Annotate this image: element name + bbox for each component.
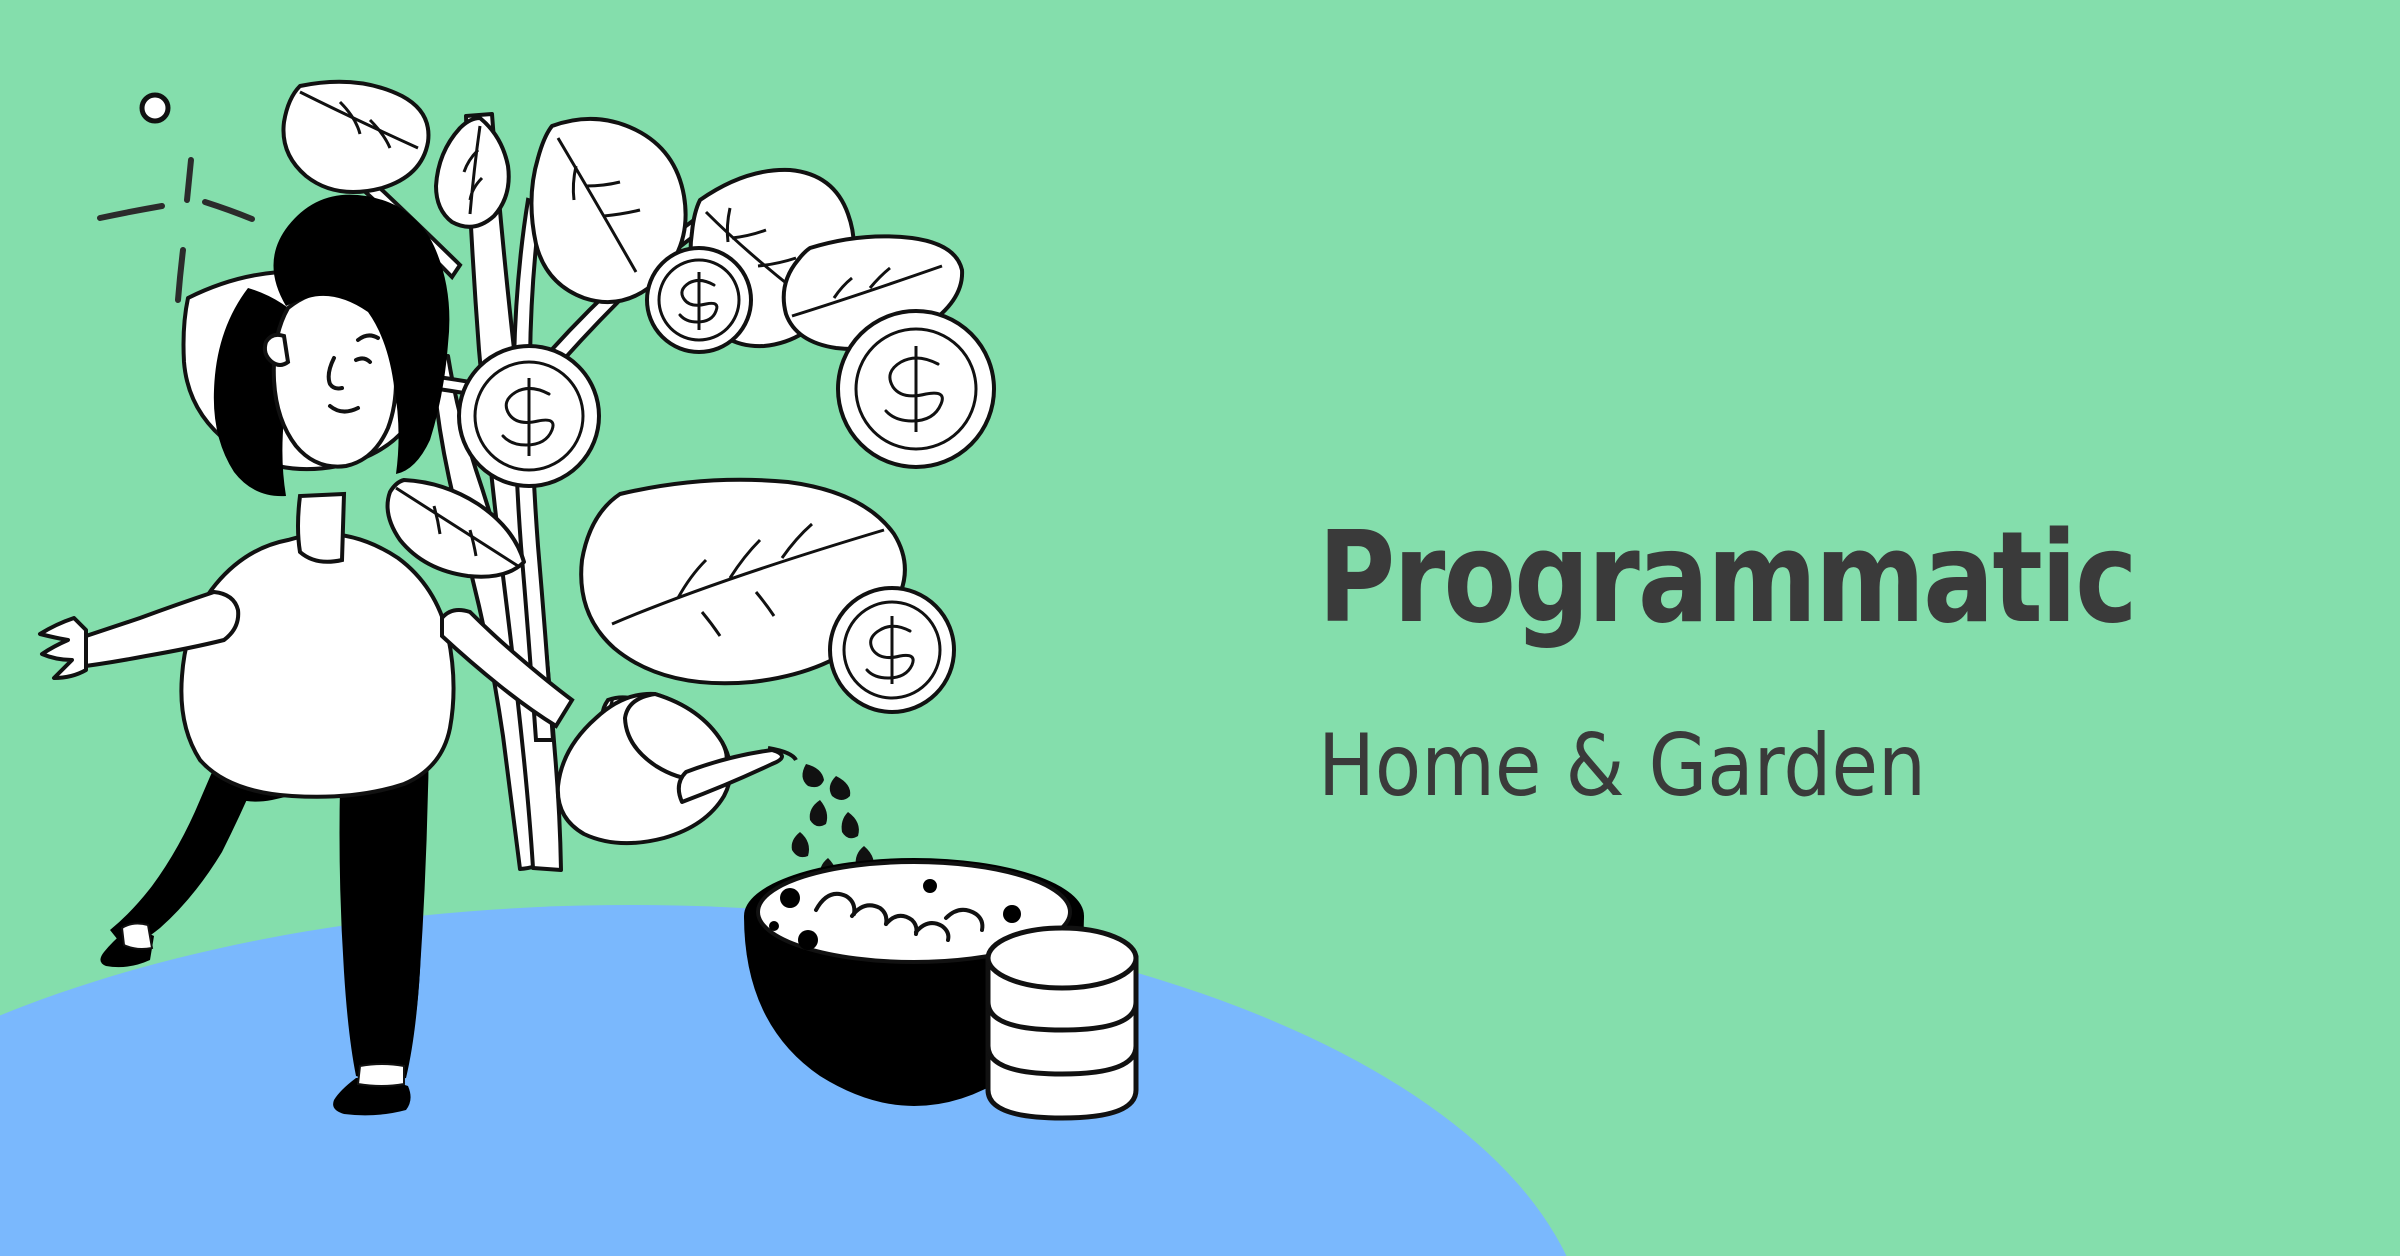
woman-sweater bbox=[181, 534, 453, 797]
leaf-upright-small bbox=[436, 118, 509, 227]
coin-lower-center bbox=[830, 588, 954, 712]
woman-neck bbox=[298, 494, 344, 562]
coin-center-large bbox=[838, 311, 994, 467]
woman-sock-front bbox=[358, 1064, 404, 1086]
woman-hand-left bbox=[40, 618, 86, 678]
illustration-money-tree-scene bbox=[0, 0, 1256, 1256]
coin-left bbox=[459, 346, 599, 486]
coin-stack-top-face bbox=[988, 928, 1136, 988]
programmatic-banner: Programmatic Home & Garden bbox=[0, 0, 2400, 1256]
page-subtitle: Home & Garden bbox=[1318, 723, 2216, 809]
coin-upper-left bbox=[647, 248, 751, 352]
headline-block: Programmatic Home & Garden bbox=[1318, 515, 2338, 809]
watering-can bbox=[558, 694, 796, 843]
leaf-top-left bbox=[283, 82, 428, 192]
coin-stack bbox=[988, 928, 1136, 1118]
small-circle-accent bbox=[142, 95, 168, 121]
sparkle-accent bbox=[100, 160, 252, 300]
woman-ear bbox=[265, 335, 288, 365]
woman-sock-back bbox=[122, 924, 152, 949]
page-title: Programmatic bbox=[1318, 515, 2267, 641]
